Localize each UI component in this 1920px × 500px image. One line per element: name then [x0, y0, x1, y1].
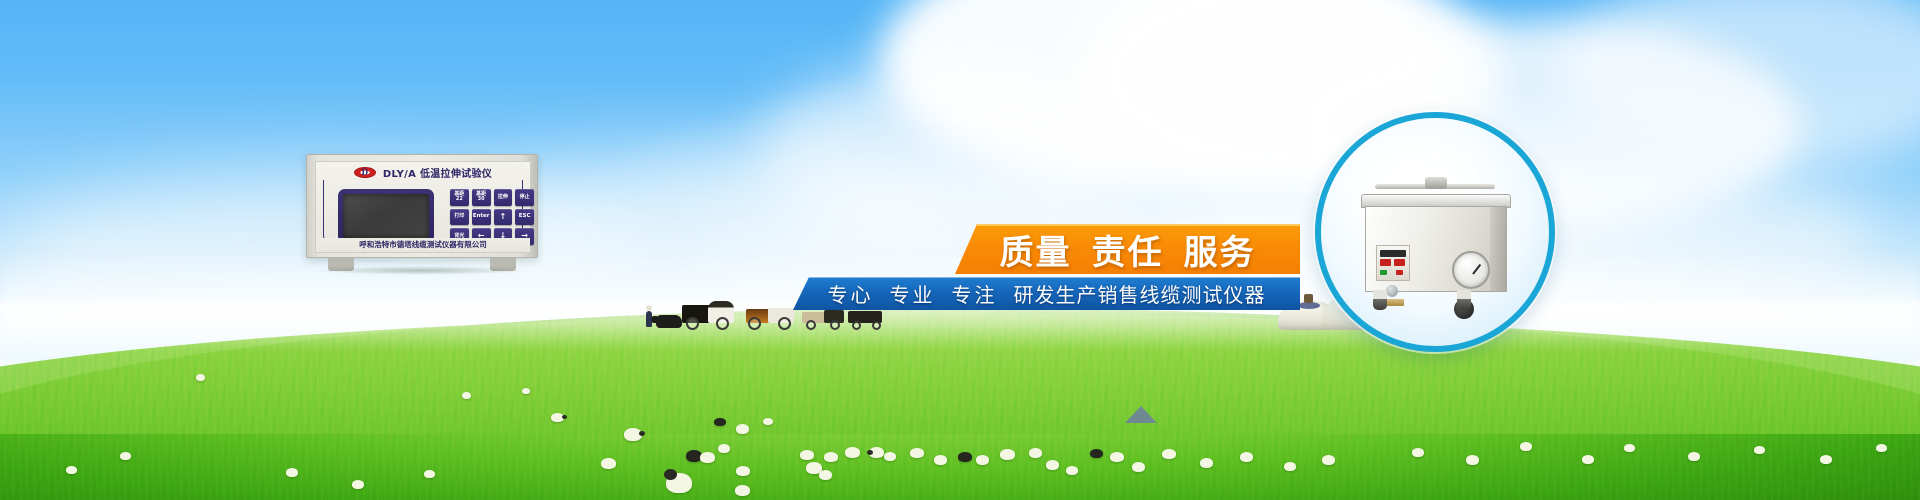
key-base-30[interactable]: 基距30: [472, 189, 491, 206]
ox-cart: [746, 304, 796, 330]
ox-cart: [802, 308, 846, 330]
control-panel: [1376, 245, 1410, 281]
tagline-text: 研发生产销售线缆测试仪器: [1014, 279, 1266, 308]
ox-cart: [682, 300, 734, 330]
slogan-word-quality: 质量: [1000, 225, 1072, 274]
instrument-model-title: DLY/A 低温拉伸试验仪: [383, 165, 492, 180]
valve-fitting: [1386, 285, 1398, 297]
secondary-slogan-text: 专心 专业 专注 研发生产销售线缆测试仪器: [793, 277, 1300, 310]
keyword-professional: 专业: [890, 279, 936, 308]
pressure-gauge: [1452, 251, 1490, 289]
lcd-bezel: [338, 189, 434, 243]
caster-wheel: [1373, 290, 1387, 310]
instrument-shadow: [316, 266, 528, 275]
lcd-screen: [343, 194, 429, 238]
keyword-focus: 专注: [952, 279, 998, 308]
instrument-title-row: DLY/A 低温拉伸试验仪: [316, 165, 530, 180]
instrument-footer-row: 呼和浩特市德塔线缆测试仪器有限公司: [316, 238, 530, 250]
promotional-banner: DLY/A 低温拉伸试验仪 基距22 基距30 拉伸 停止 打印 Enter ↑…: [0, 0, 1920, 500]
distant-tent: [1125, 406, 1157, 423]
primary-slogan-bar: 质量 责任 服务: [955, 224, 1300, 274]
chamber-body: [1365, 206, 1507, 292]
keyword-dedication: 专心: [828, 279, 874, 308]
key-base-22[interactable]: 基距22: [450, 189, 469, 206]
slogan-word-service: 服务: [1184, 225, 1256, 274]
key-print[interactable]: 打印: [450, 209, 469, 226]
key-enter[interactable]: Enter: [472, 209, 491, 226]
dly-oval-logo-icon: [354, 167, 376, 178]
product-circle: [1315, 112, 1555, 352]
instrument-case: DLY/A 低温拉伸试验仪 基距22 基距30 拉伸 停止 打印 Enter ↑…: [306, 154, 538, 258]
product-circle-ring: [1315, 112, 1555, 352]
instrument-company-name: 呼和浩特市德塔线缆测试仪器有限公司: [359, 239, 487, 250]
key-up-arrow[interactable]: ↑: [494, 209, 513, 226]
dly-a-instrument: DLY/A 低温拉伸试验仪 基距22 基距30 拉伸 停止 打印 Enter ↑…: [306, 154, 538, 272]
primary-slogan-text: 质量 责任 服务: [955, 224, 1300, 274]
slogan-word-responsibility: 责任: [1092, 225, 1164, 274]
key-esc[interactable]: ESC: [515, 209, 534, 226]
ox-cart: [848, 310, 888, 330]
key-stretch[interactable]: 拉伸: [494, 189, 513, 206]
instrument-faceplate: DLY/A 低温拉伸试验仪 基距22 基距30 拉伸 停止 打印 Enter ↑…: [315, 161, 531, 253]
secondary-slogan-bar: 专心 专业 专注 研发生产销售线缆测试仪器: [793, 277, 1300, 310]
aging-test-chamber: [1361, 176, 1511, 316]
instrument-keypad[interactable]: 基距22 基距30 拉伸 停止 打印 Enter ↑ ESC 背光 ← ↓ →: [450, 189, 534, 245]
caster-wheel: [1457, 290, 1471, 310]
chamber-handle: [1375, 184, 1495, 189]
key-stop[interactable]: 停止: [515, 189, 534, 206]
